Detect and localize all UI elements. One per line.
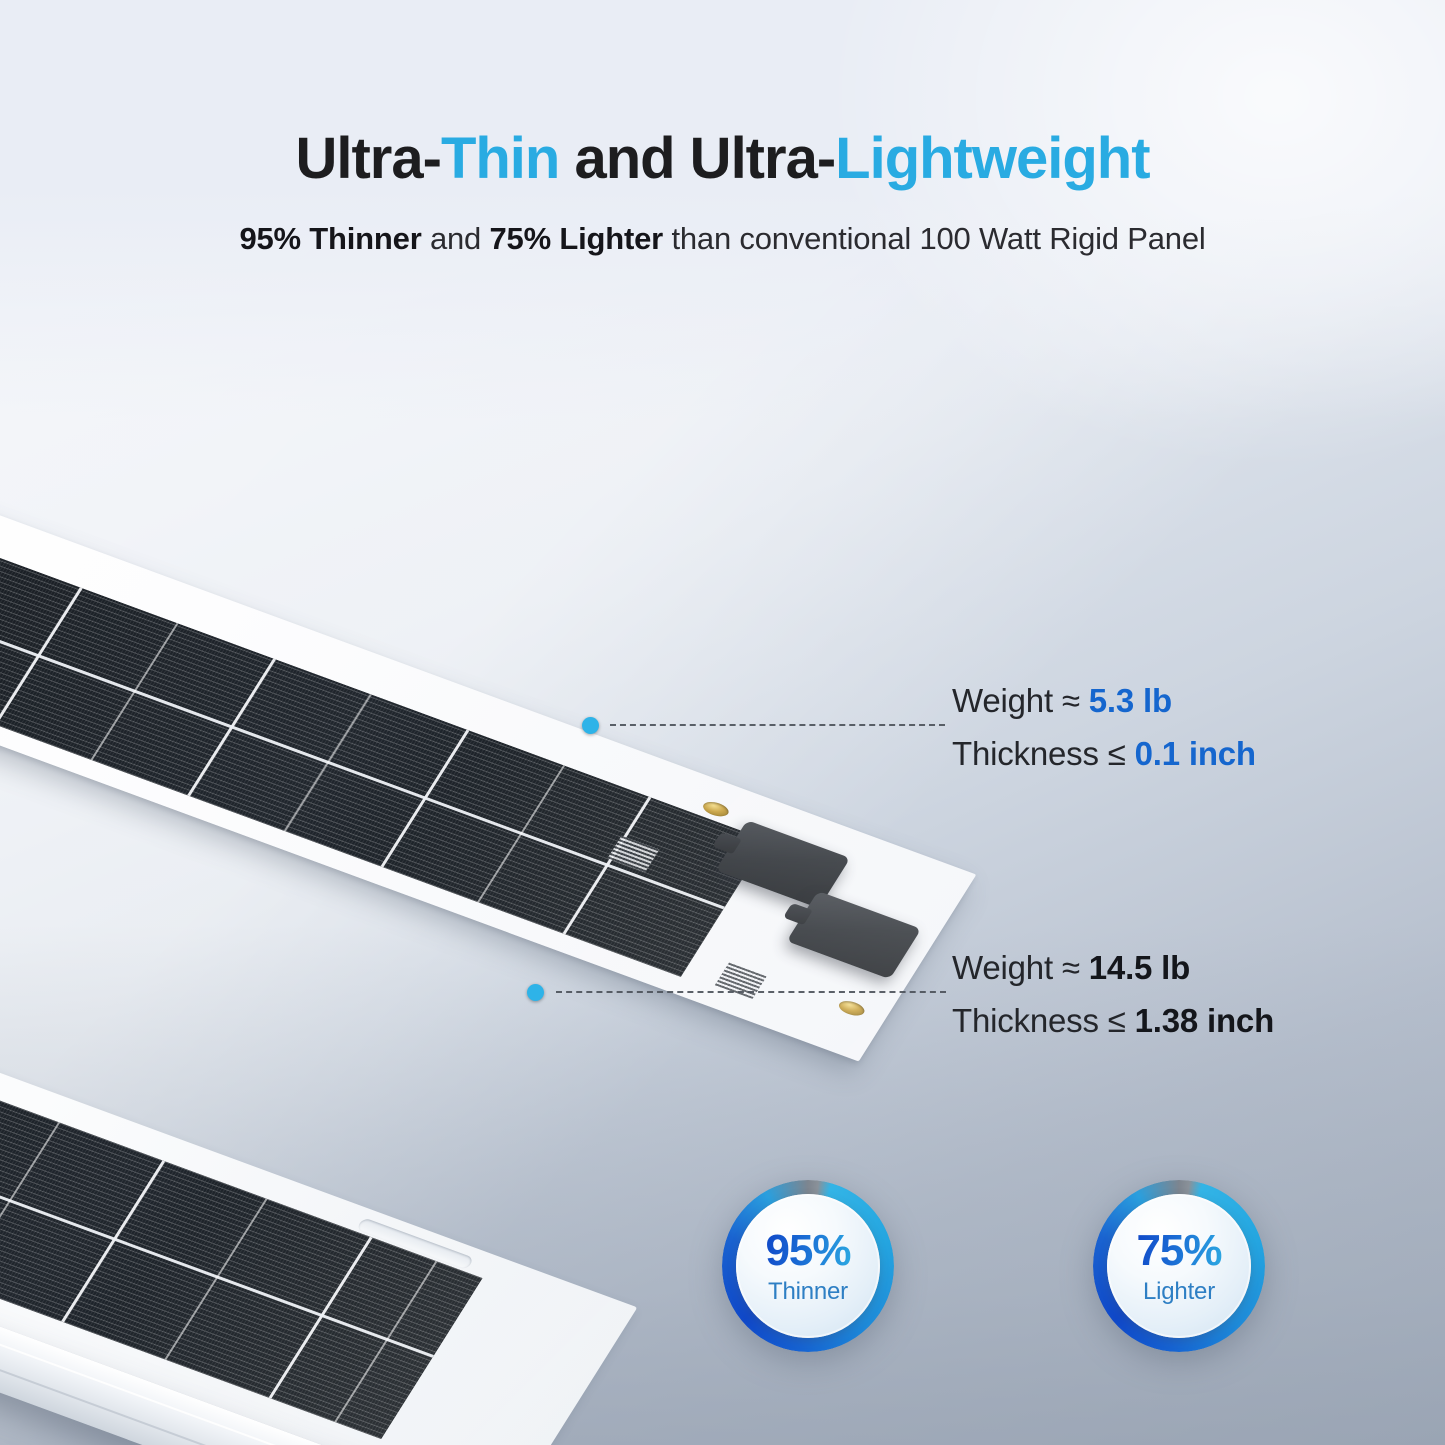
callout-thickness-value: 1.38 inch — [1135, 1002, 1274, 1039]
callout-weight-label: Weight ≈ — [952, 682, 1089, 719]
solar-cell-texture — [0, 445, 767, 977]
badge-inner-disc: 75% Lighter — [1107, 1194, 1251, 1338]
callout-weight-value: 14.5 lb — [1089, 949, 1190, 986]
callout-weight-row: Weight ≈ 14.5 lb — [952, 941, 1274, 994]
callout-thickness-label: Thickness ≤ — [952, 1002, 1135, 1039]
grommet-icon — [700, 799, 731, 819]
flexible-solar-panel — [0, 405, 976, 1061]
flexible-panel-cell-array — [0, 445, 767, 977]
callout-weight-row: Weight ≈ 5.3 lb — [952, 674, 1256, 727]
callout-thickness-label: Thickness ≤ — [952, 735, 1135, 772]
badge-inner-disc: 95% Thinner — [736, 1194, 880, 1338]
badge-label-thinner: Thinner — [768, 1280, 848, 1304]
badge-percent: 75% — [1136, 1229, 1221, 1273]
callout-thickness-row: Thickness ≤ 1.38 inch — [952, 994, 1274, 1047]
badge-thinner: 95% Thinner — [722, 1180, 894, 1352]
infographic-canvas: Ultra-Thin and Ultra-Lightweight 95% Thi… — [0, 0, 1445, 1445]
callout-flexible-panel: Weight ≈ 5.3 lb Thickness ≤ 0.1 inch — [952, 674, 1256, 781]
badge-percent: 95% — [765, 1229, 850, 1273]
callout-thickness-row: Thickness ≤ 0.1 inch — [952, 727, 1256, 780]
badge-label-lighter: Lighter — [1143, 1280, 1215, 1304]
callout-weight-value: 5.3 lb — [1089, 682, 1172, 719]
callout-weight-label: Weight ≈ — [952, 949, 1089, 986]
marker-dot-icon — [582, 717, 599, 734]
qr-label-icon — [715, 963, 767, 999]
grommet-icon — [836, 998, 867, 1018]
marker-dot-icon — [527, 984, 544, 1001]
callout-thickness-value: 0.1 inch — [1135, 735, 1256, 772]
leader-line-icon — [610, 724, 945, 726]
callout-rigid-panel: Weight ≈ 14.5 lb Thickness ≤ 1.38 inch — [952, 941, 1274, 1048]
badge-lighter: 75% Lighter — [1093, 1180, 1265, 1352]
leader-line-icon — [556, 991, 946, 993]
rigid-solar-panel — [0, 900, 637, 1445]
